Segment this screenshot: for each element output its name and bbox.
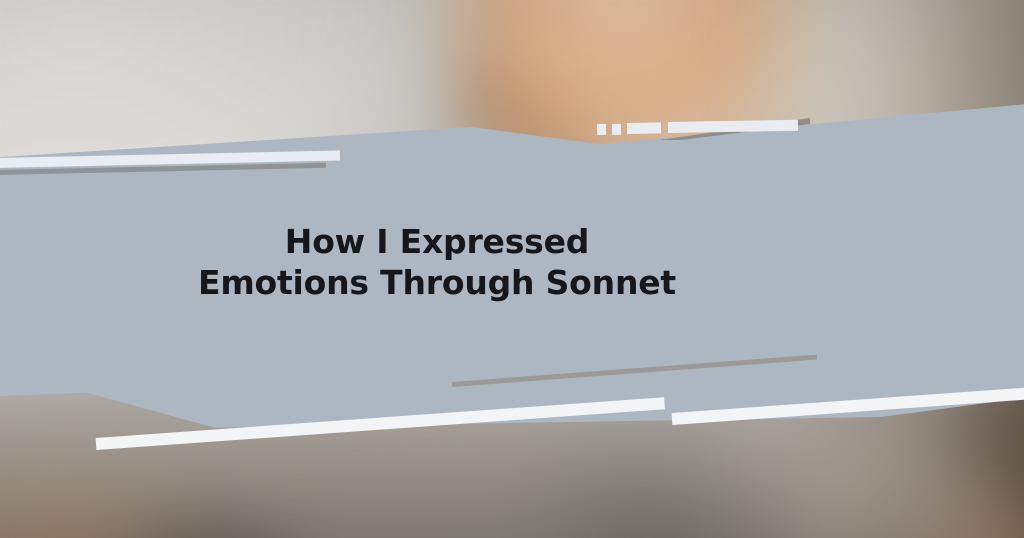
dash-small-2 [612, 124, 621, 135]
dash-medium [627, 122, 661, 134]
dash-small-1 [597, 124, 606, 135]
dash-long [668, 120, 798, 133]
page-title: How I Expressed Emotions Through Sonnet [0, 222, 1024, 304]
banner-canvas: How I Expressed Emotions Through Sonnet [0, 0, 1024, 538]
